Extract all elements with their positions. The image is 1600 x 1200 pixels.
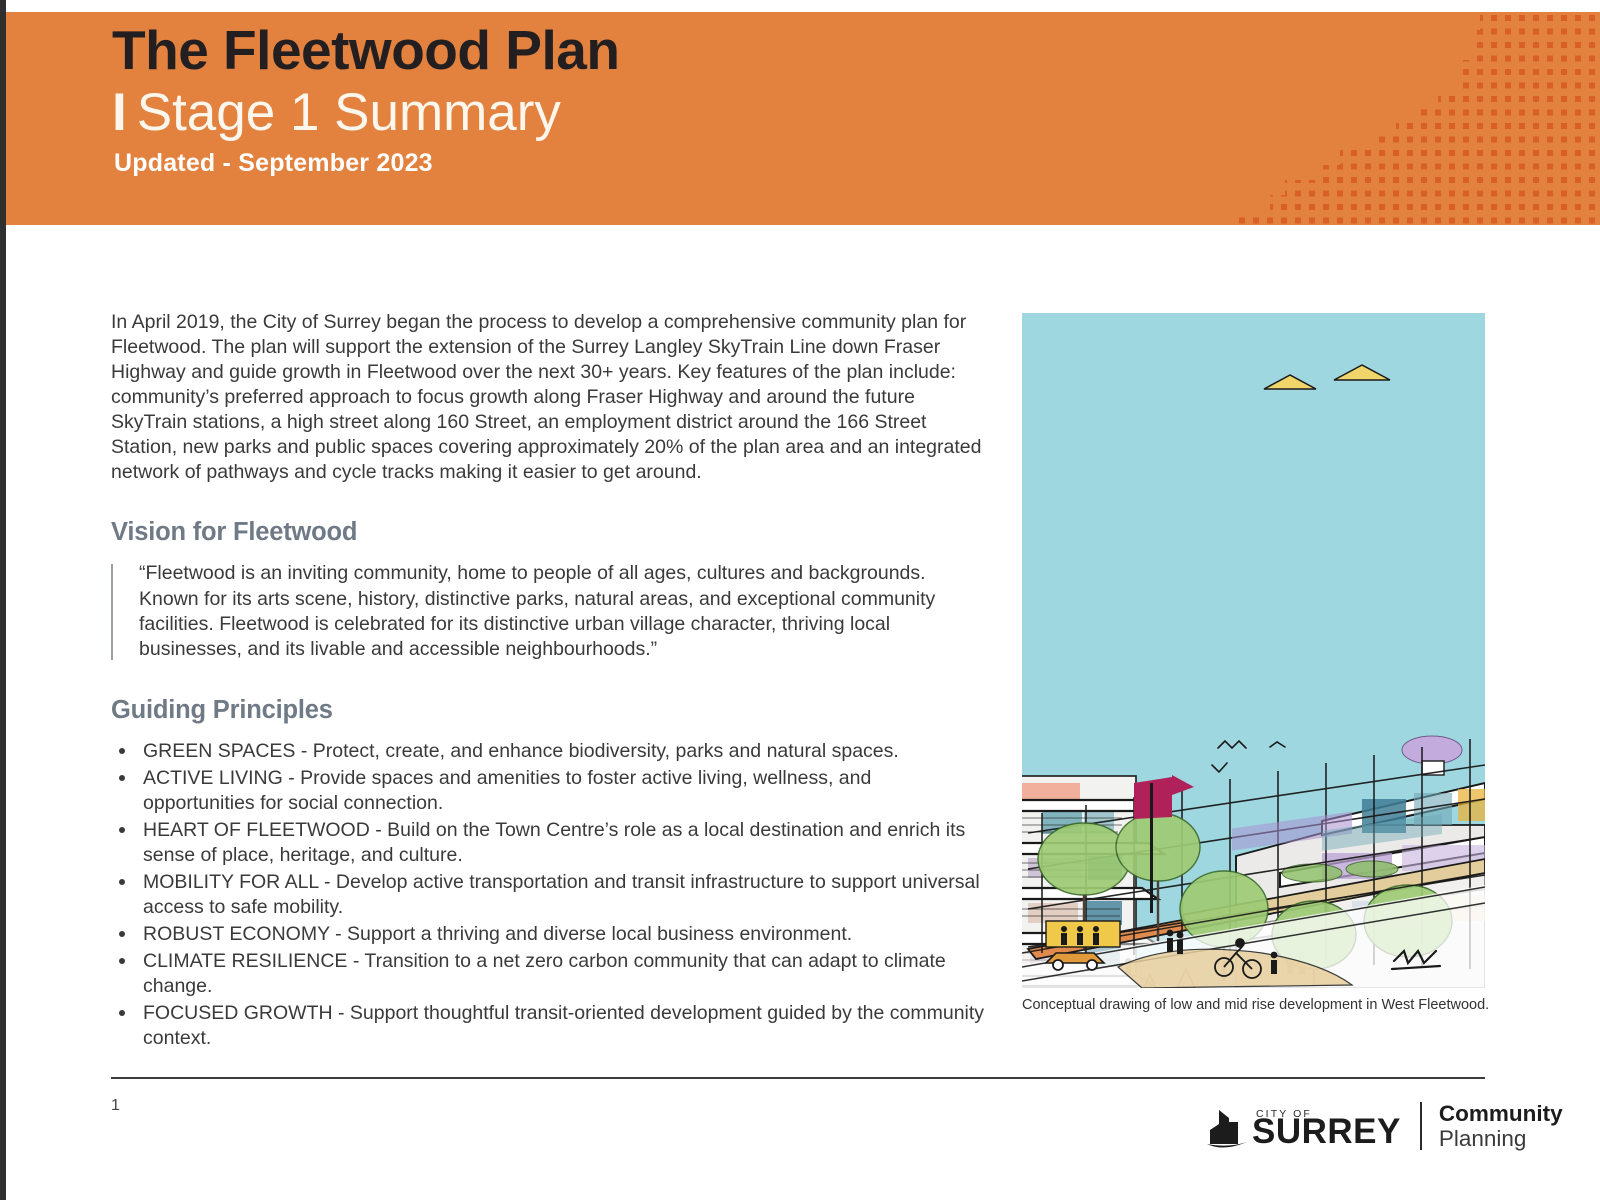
vision-quote-text: “Fleetwood is an inviting community, hom… — [139, 561, 987, 662]
department-line-2: Planning — [1439, 1126, 1563, 1151]
list-item: ACTIVE LIVING - Provide spaces and ameni… — [111, 766, 987, 816]
footer-logo-group: CITY OF SURREY Community Planning — [1205, 1095, 1563, 1157]
page-number: 1 — [111, 1097, 120, 1115]
list-item: CLIMATE RESILIENCE - Transition to a net… — [111, 949, 987, 999]
principles-heading: Guiding Principles — [111, 696, 987, 725]
figure-block: Conceptual drawing of low and mid rise d… — [1022, 313, 1485, 1013]
page-subtitle: IStage 1 Summary — [112, 84, 1112, 141]
department-label: Community Planning — [1439, 1101, 1563, 1151]
decorative-dot-pattern — [1180, 12, 1600, 225]
list-item: FOCUSED GROWTH - Support thoughtful tran… — [111, 1001, 987, 1051]
logo-surrey-text: SURREY — [1252, 1114, 1401, 1149]
page-content: In April 2019, the City of Surrey began … — [0, 225, 1600, 1200]
list-item: GREEN SPACES - Protect, create, and enha… — [111, 739, 987, 764]
list-item: MOBILITY FOR ALL - Develop active transp… — [111, 870, 987, 920]
department-line-1: Community — [1439, 1101, 1563, 1126]
footer-divider — [111, 1077, 1485, 1079]
list-item: HEART OF FLEETWOOD - Build on the Town C… — [111, 818, 987, 868]
conceptual-drawing-image — [1022, 313, 1485, 988]
list-item: ROBUST ECONOMY - Support a thriving and … — [111, 922, 987, 947]
vision-quote-block: “Fleetwood is an inviting community, hom… — [111, 561, 987, 662]
header-banner: The Fleetwood Plan IStage 1 Summary Upda… — [6, 12, 1600, 225]
surrey-wordmark: CITY OF SURREY — [1252, 1108, 1401, 1149]
vision-heading: Vision for Fleetwood — [111, 518, 987, 547]
updated-date: Updated - September 2023 — [114, 149, 1112, 178]
page-subtitle-text: Stage 1 Summary — [137, 83, 561, 142]
guiding-principles-list: GREEN SPACES - Protect, create, and enha… — [111, 739, 987, 1052]
page-title: The Fleetwood Plan — [112, 20, 1112, 82]
logo-divider — [1420, 1102, 1422, 1150]
surrey-building-logo-icon — [1205, 1104, 1249, 1148]
figure-caption: Conceptual drawing of low and mid rise d… — [1022, 997, 1485, 1013]
title-bar-glyph: I — [112, 84, 127, 141]
left-column: In April 2019, the City of Surrey began … — [111, 310, 987, 1053]
intro-paragraph: In April 2019, the City of Surrey began … — [111, 310, 987, 485]
quote-rule — [111, 564, 113, 660]
